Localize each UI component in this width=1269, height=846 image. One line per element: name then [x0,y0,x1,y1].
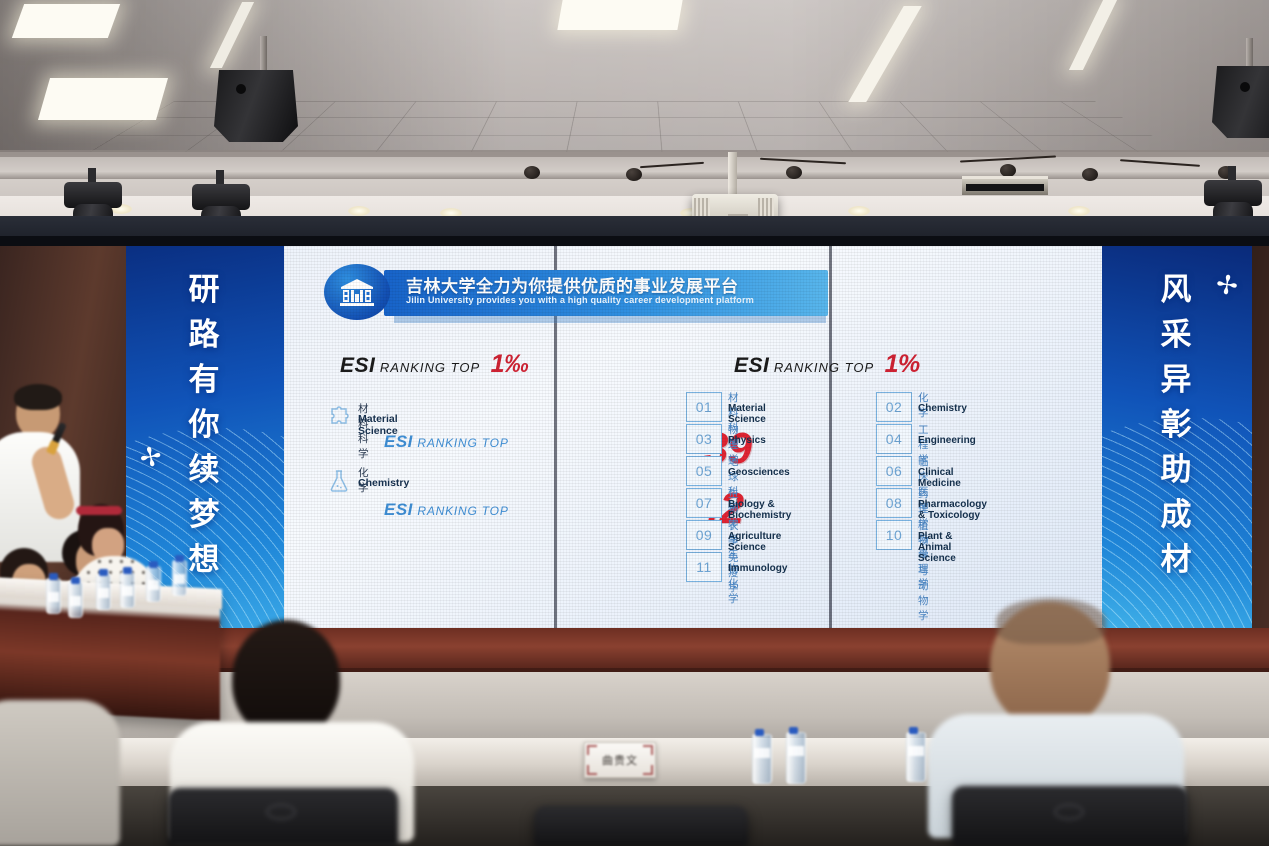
left-banner-text: 研 路 有 你 续 梦 想 [126,268,284,583]
speaker-mount-rod [1246,38,1253,70]
ranking-label: RANKING TOP [774,360,874,375]
list-number: 04 [876,424,912,454]
banner-char: 材 [1102,538,1252,583]
list-number: 02 [876,392,912,422]
auditorium-photo: ✢ 研 路 有 你 续 梦 想 [0,0,1269,846]
banner-char: 彰 [1102,403,1252,448]
list-number: 11 [686,552,722,582]
ceiling-panel-light [38,78,168,120]
esi-heading-percent: ESI RANKING TOP 1% [734,350,920,379]
ceiling-speaker-knob [1082,168,1098,181]
chair-back [952,786,1188,846]
ranking-label: RANKING TOP [417,504,508,518]
ceiling-strip-light [962,176,1048,195]
chair-back [534,806,748,846]
puzzle-piece-icon [326,404,352,430]
list-number: 05 [686,456,722,486]
water-bottle [906,732,926,782]
water-bottle [96,574,111,610]
water-bottle [172,560,187,596]
list-name-en: Immunology [728,563,787,574]
esi-label: ESI [734,354,769,377]
hanging-speaker [214,70,298,142]
banner-char: 你 [126,403,284,448]
soffit-shadow-line [0,150,1269,157]
banner-char: 研 [126,268,284,313]
chair-back [168,788,398,846]
list-name-en: Chemistry [918,403,967,414]
water-bottle [120,572,135,608]
speaker-mount-rod [260,36,267,74]
slide-title-banner: 吉林大学全力为你提供优质的事业发展平台 Jilin University pro… [316,264,828,320]
banner-char: 梦 [126,493,284,538]
list-name-en: Plant & Animal Science [918,531,956,564]
list-number: 03 [686,424,722,454]
attendee-shoulders [0,700,120,846]
banner-char: 成 [1102,493,1252,538]
slide-title-cn: 吉林大学全力为你提供优质的事业发展平台 [406,272,739,297]
nameplate: 曲贵文 [584,742,656,778]
esi-label: ESI [340,354,375,377]
esi-heading-permille: ESI RANKING TOP 1‰ [340,350,529,379]
banner-char: 采 [1102,313,1252,358]
hanging-speaker [1212,66,1269,138]
slide-title-en: Jilin University provides you with a hig… [406,295,754,305]
ceiling-speaker-knob [524,166,540,179]
list-name-en: Geosciences [728,467,790,478]
subject-name-en: Chemistry [358,477,409,489]
ceiling-downlight [848,206,870,216]
attendee-hair [996,598,1106,644]
list-number: 10 [876,520,912,550]
presentation-slide: 吉林大学全力为你提供优质的事业发展平台 Jilin University pro… [284,246,1102,628]
esi-label: ESI [384,432,413,451]
esi-value: 1% [885,350,920,378]
list-number: 09 [686,520,722,550]
led-right-banner: ✢ 风 采 异 彰 助 成 材 [1102,246,1252,628]
esi-sublabel-chemistry: ESI RANKING TOP [384,500,509,520]
esi-sublabel-material: ESI RANKING TOP [384,432,509,452]
headband [76,506,122,515]
list-number: 06 [876,456,912,486]
projector-mount-pole [728,152,737,198]
ceiling-panel-light [12,4,120,38]
ranking-label: RANKING TOP [380,360,480,375]
banner-char: 风 [1102,268,1252,313]
list-number: 08 [876,488,912,518]
ceiling-panel-light [557,0,682,30]
banner-char: 有 [126,358,284,403]
led-video-wall: ✢ 研 路 有 你 续 梦 想 [126,246,1252,628]
water-bottle [68,582,83,618]
ceiling-downlight [348,206,370,216]
banner-char: 异 [1102,358,1252,403]
esi-label: ESI [384,500,413,519]
banner-char: 续 [126,448,284,493]
flask-icon [326,468,352,494]
list-number: 07 [686,488,722,518]
water-bottle [146,566,161,602]
esi-value: 1‰ [491,350,529,378]
ceiling-speaker-knob [786,166,802,179]
list-number: 01 [686,392,722,422]
ranking-label: RANKING TOP [417,436,508,450]
water-bottle [46,578,61,614]
list-name-en: Engineering [918,435,976,446]
attendee-head [232,620,340,738]
nameplate-text: 曲贵文 [602,752,638,768]
ceiling-downlight [1068,206,1090,216]
right-banner-text: 风 采 异 彰 助 成 材 [1102,268,1252,583]
banner-char: 助 [1102,448,1252,493]
speaker-hair [14,384,62,410]
banner-char: 路 [126,313,284,358]
ceiling-speaker-knob [626,168,642,181]
university-building-icon [324,264,390,320]
water-bottle [786,732,806,784]
water-bottle [752,734,772,784]
list-name-en: Physics [728,435,766,446]
